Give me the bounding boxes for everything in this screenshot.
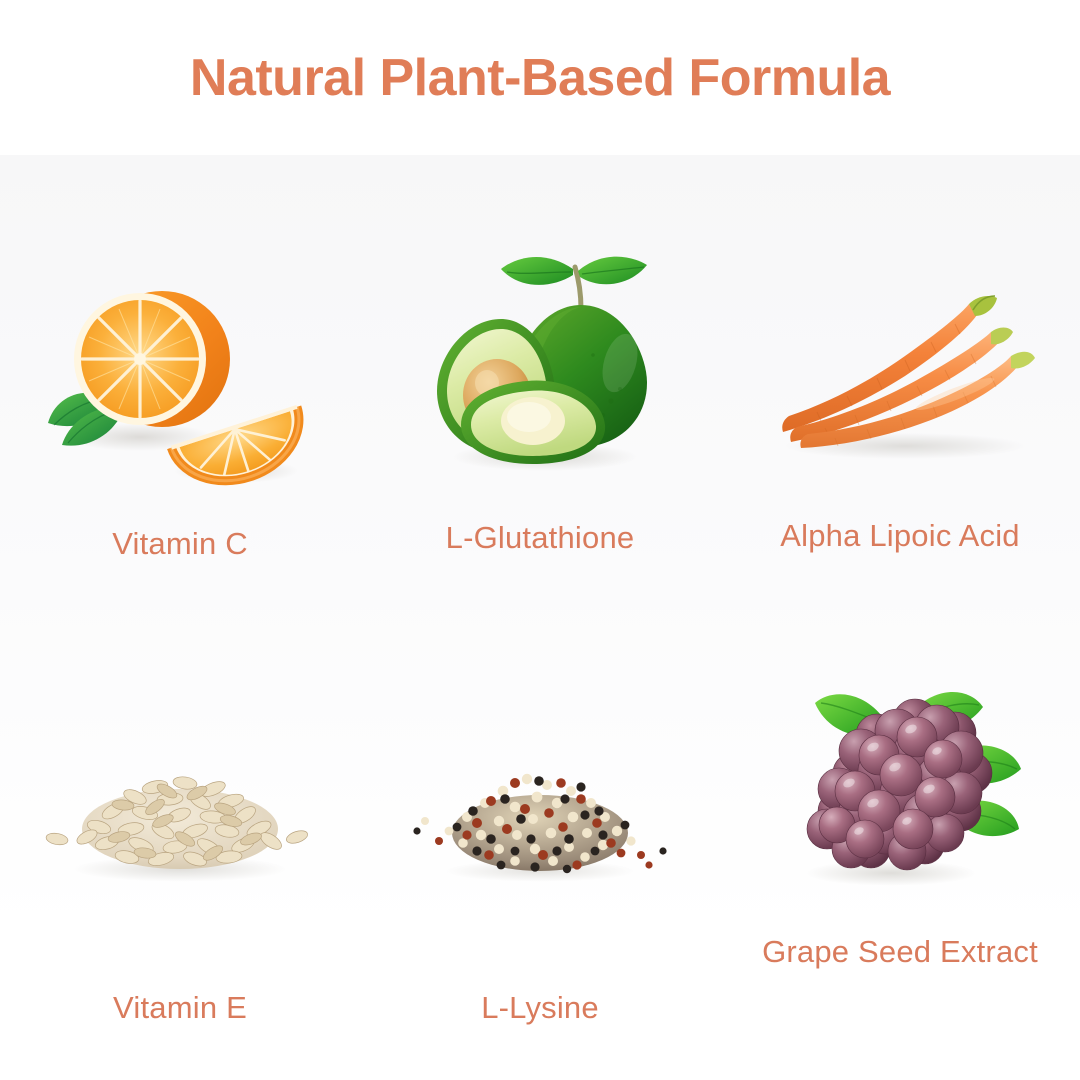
ingredient-label: L-Lysine bbox=[481, 987, 599, 1028]
orange-wedge bbox=[171, 406, 313, 496]
page-title: Natural Plant-Based Formula bbox=[190, 48, 890, 108]
ingredient-card-vitamin-c: Vitamin C bbox=[0, 175, 360, 615]
ingredient-card-l-glutathione: L-Glutathione bbox=[360, 175, 720, 615]
orange-half-cut-face bbox=[74, 293, 206, 425]
ingredient-card-l-lysine: L-Lysine bbox=[360, 615, 720, 1055]
ingredient-label: Vitamin C bbox=[112, 523, 248, 564]
avocado-illustration bbox=[390, 237, 690, 487]
orange-halves-illustration bbox=[30, 257, 330, 507]
tricolor-quinoa-illustration bbox=[390, 693, 690, 943]
sunflower-seeds-illustration bbox=[30, 693, 330, 943]
ingredient-card-alpha-lipoic-acid: Alpha Lipoic Acid bbox=[720, 175, 1080, 615]
ingredient-card-grape-seed-extract: Grape Seed Extract bbox=[720, 615, 1080, 1055]
carrots-illustration bbox=[750, 253, 1050, 503]
ingredient-grid: Vitamin C bbox=[0, 175, 1080, 1055]
ingredient-card-vitamin-e: Vitamin E bbox=[0, 615, 360, 1055]
ingredient-label: Vitamin E bbox=[113, 987, 247, 1028]
ingredient-label: Alpha Lipoic Acid bbox=[780, 515, 1020, 556]
infographic-page: Natural Plant-Based Formula bbox=[0, 0, 1080, 1080]
avocado-stem-and-leaves bbox=[501, 256, 647, 308]
header: Natural Plant-Based Formula bbox=[0, 0, 1080, 155]
ingredient-label: L-Glutathione bbox=[446, 517, 635, 558]
red-grapes-illustration bbox=[750, 659, 1050, 909]
ingredient-label: Grape Seed Extract bbox=[762, 931, 1038, 972]
